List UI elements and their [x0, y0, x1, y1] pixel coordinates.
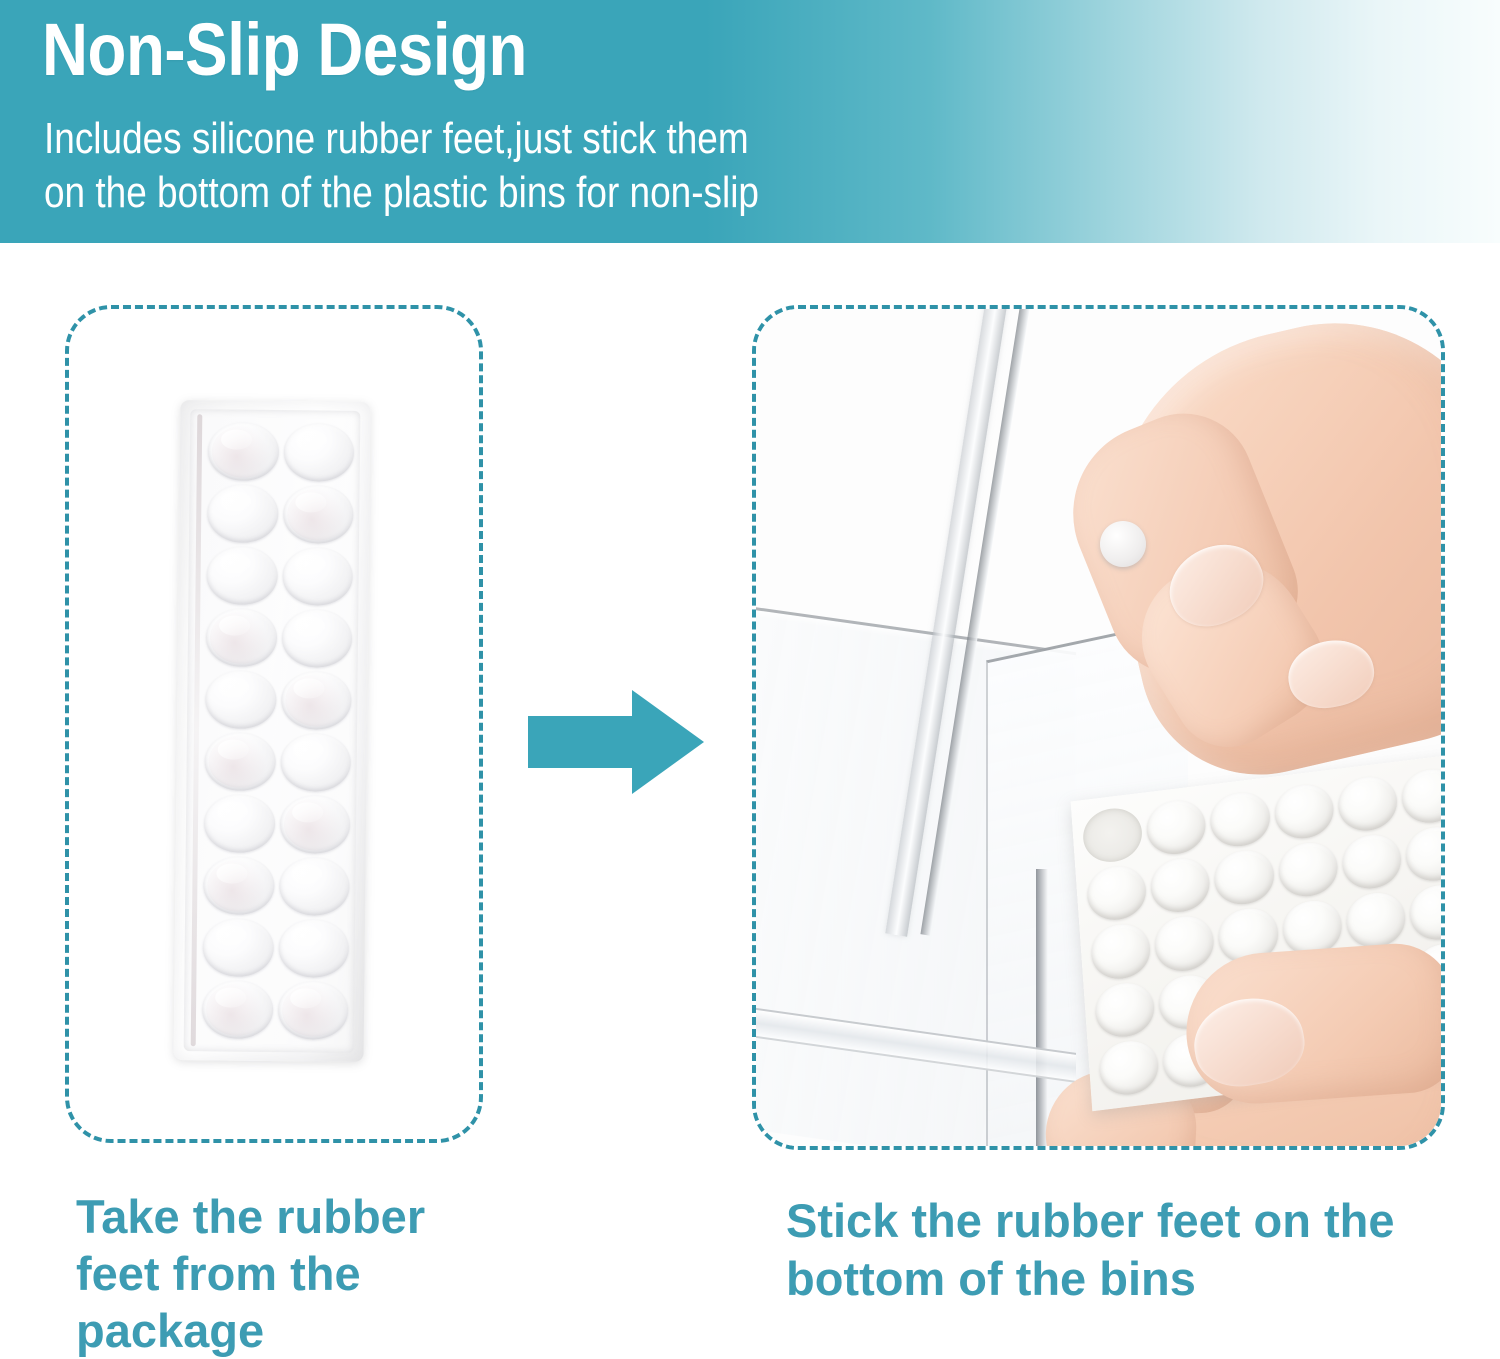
rubber-bumper: [1213, 848, 1275, 908]
rubber-bumper: [1344, 890, 1406, 950]
rubber-foot: [202, 980, 273, 1039]
rubber-foot: [206, 608, 277, 667]
bin-application-photo: [756, 309, 1441, 1146]
page-title: Non-Slip Design: [42, 8, 527, 92]
rubber-bumper: [1094, 980, 1156, 1040]
header-subtitle: Includes silicone rubber feet,just stick…: [44, 112, 759, 220]
step-1-image-panel: [65, 305, 483, 1143]
rubber-foot: [282, 485, 353, 544]
rubber-bumper: [1209, 789, 1271, 849]
rubber-bumper: [1090, 921, 1152, 981]
rubber-foot: [205, 670, 276, 729]
step-2-caption: Stick the rubber feet on the bottom of t…: [786, 1192, 1446, 1308]
rubber-bumper: [1149, 855, 1211, 915]
rubber-bumper: [1085, 863, 1147, 923]
header-subtitle-line-2: on the bottom of the plastic bins for no…: [44, 166, 759, 220]
rubber-bumper: [1145, 797, 1207, 857]
rubber-foot: [282, 547, 353, 606]
rubber-foot: [283, 423, 354, 482]
process-arrow-icon: [528, 690, 704, 794]
blister-pack-image: [174, 400, 371, 1062]
step-1-caption: Take the rubber feet from the package: [76, 1188, 506, 1359]
rubber-foot: [278, 919, 349, 978]
rubber-foot: [279, 857, 350, 916]
header-subtitle-line-1: Includes silicone rubber feet,just stick…: [44, 112, 759, 166]
upper-hand: [1056, 309, 1441, 829]
rubber-foot: [281, 609, 352, 668]
rubber-foot: [206, 546, 277, 605]
rubber-foot: [203, 856, 274, 915]
pinched-rubber-foot: [1100, 521, 1146, 567]
rubber-bumper: [1404, 824, 1441, 884]
rubber-bumper: [1272, 782, 1334, 842]
step-2-image-panel: [752, 305, 1445, 1150]
rubber-foot: [207, 484, 278, 543]
rubber-foot: [204, 732, 275, 791]
rubber-foot: [280, 733, 351, 792]
rubber-bumper: [1400, 766, 1441, 826]
rubber-foot: [208, 422, 279, 481]
header-banner: Non-Slip Design Includes silicone rubber…: [0, 0, 1500, 243]
rubber-foot: [202, 918, 273, 977]
rubber-feet-grid: [200, 420, 356, 1042]
rubber-bumper: [1153, 914, 1215, 974]
rubber-foot: [277, 981, 348, 1040]
rubber-bumper: [1408, 882, 1441, 942]
rubber-foot: [204, 794, 275, 853]
rubber-bumper: [1336, 774, 1398, 834]
rubber-foot: [281, 671, 352, 730]
rubber-bumper: [1081, 805, 1143, 865]
rubber-bumper: [1277, 840, 1339, 900]
rubber-bumper: [1340, 832, 1402, 892]
rubber-foot: [279, 795, 350, 854]
rubber-bumper: [1098, 1038, 1160, 1098]
